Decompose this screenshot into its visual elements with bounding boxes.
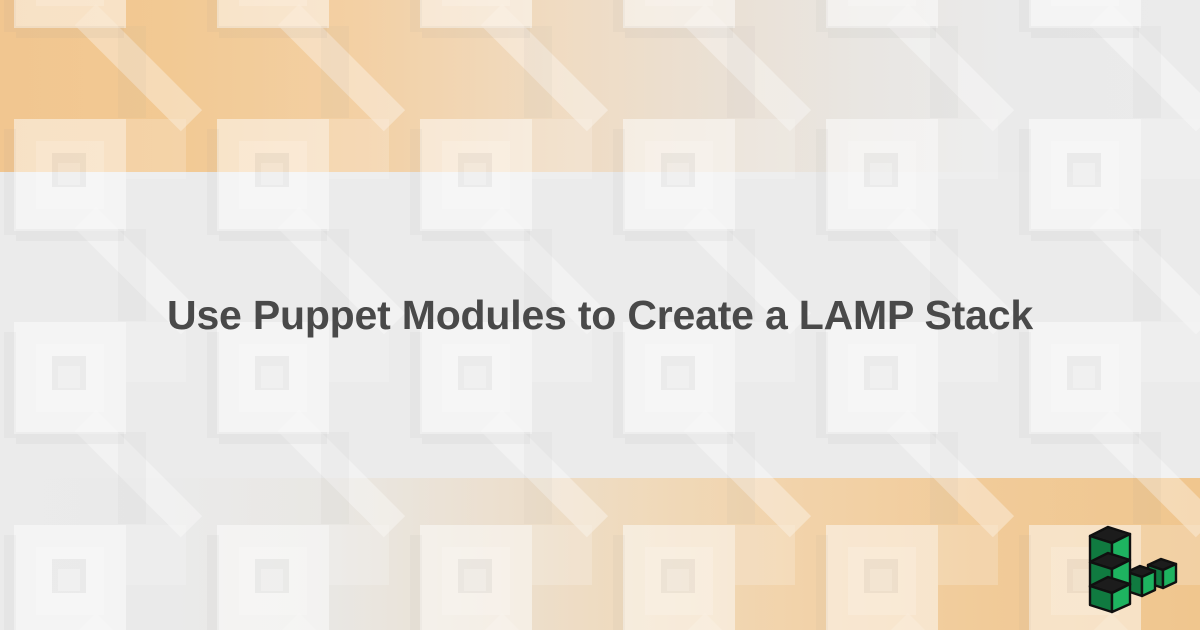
page-title-text: Use Puppet Modules to Create a LAMP Stac…	[167, 292, 1033, 339]
cube-large-bottom	[1090, 577, 1130, 612]
social-share-card: Use Puppet Modules to Create a LAMP Stac…	[0, 0, 1200, 630]
vagrant-cubes-logo	[1082, 520, 1186, 616]
page-title: Use Puppet Modules to Create a LAMP Stac…	[0, 0, 1200, 630]
vagrant-cubes-icon	[1082, 520, 1186, 616]
